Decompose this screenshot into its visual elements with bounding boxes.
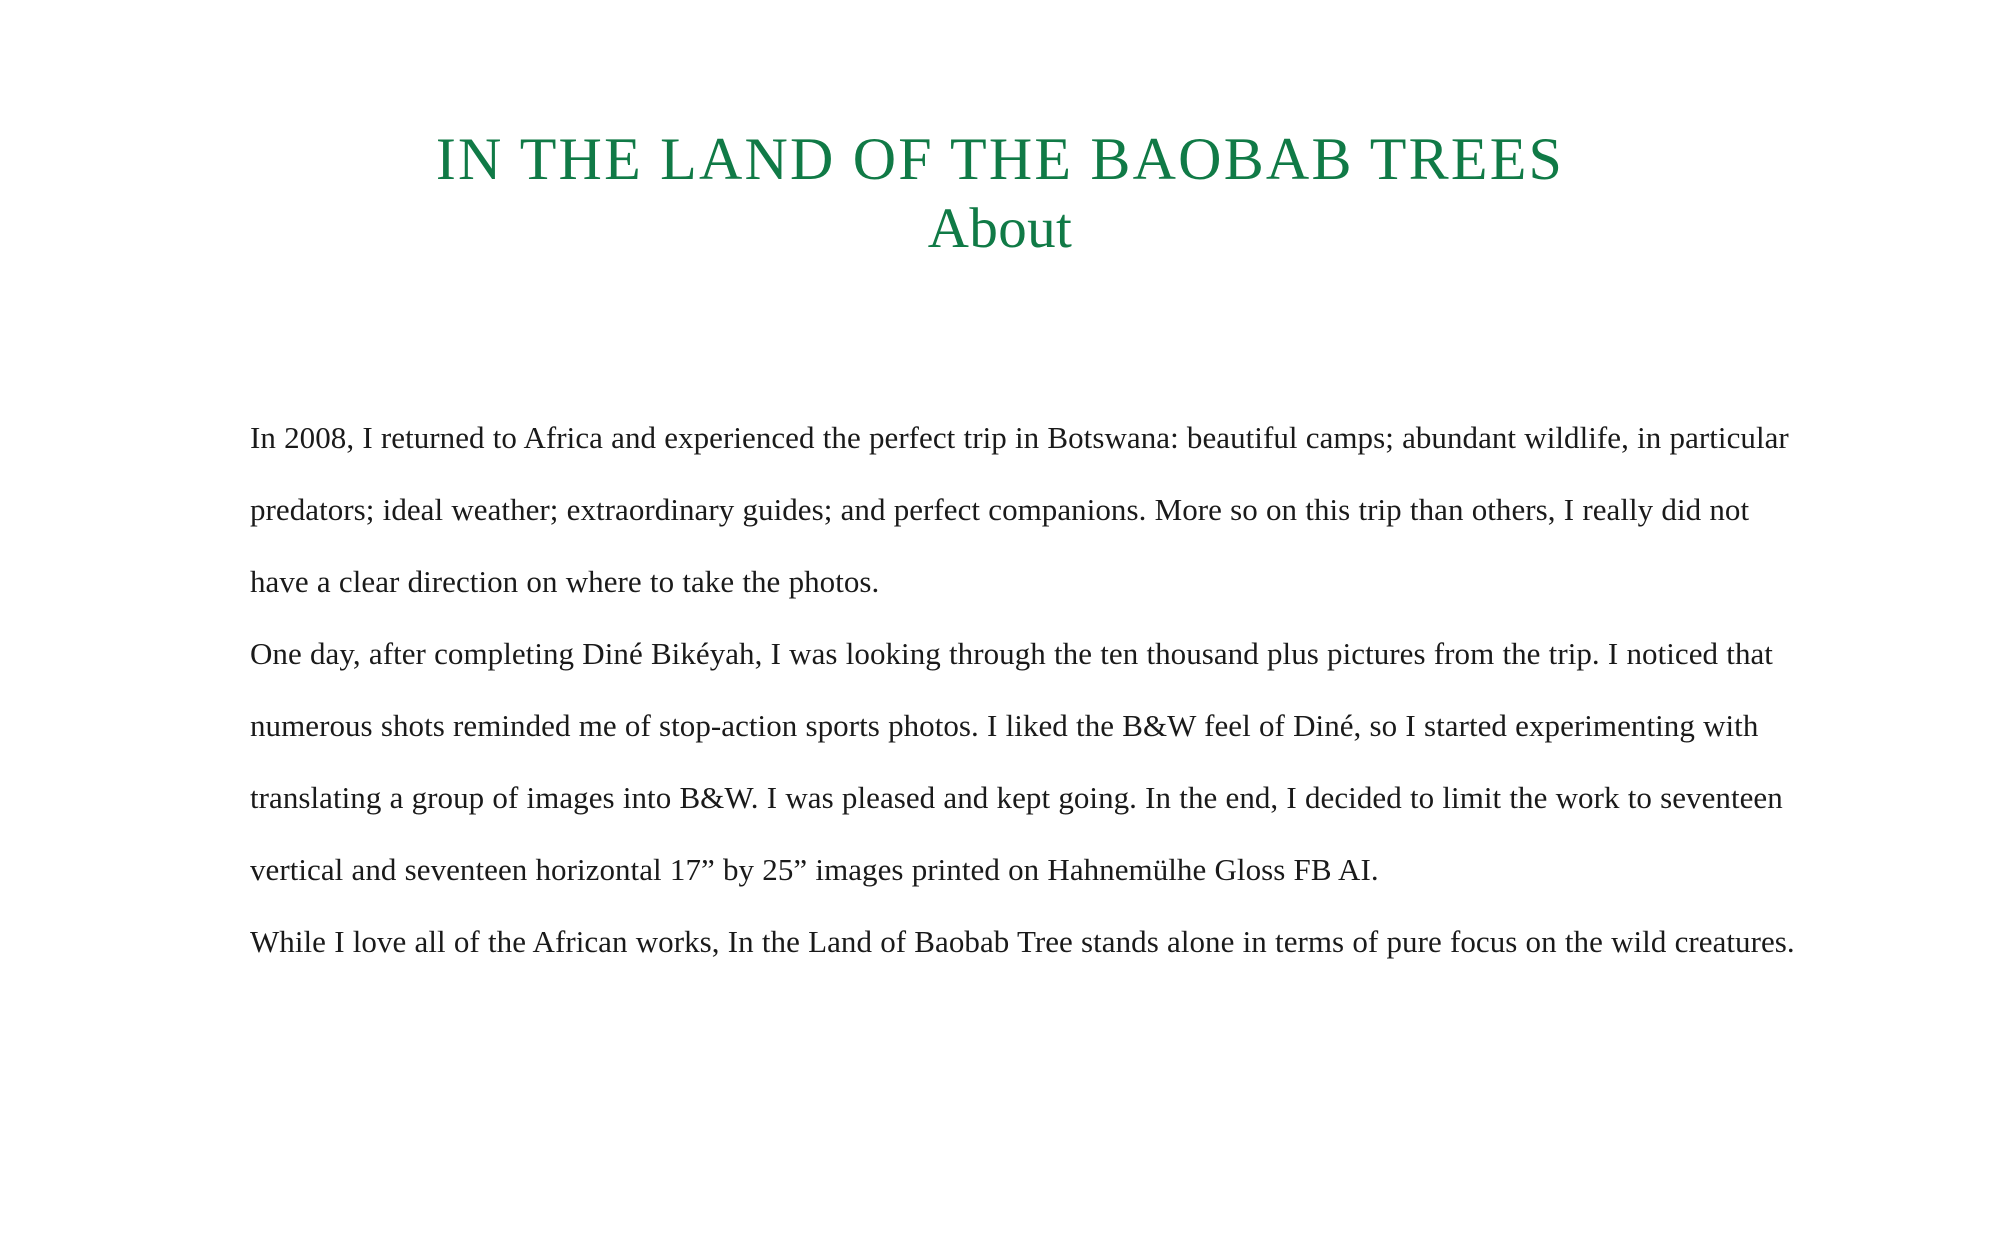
body-paragraph-3: While I love all of the African works, I…: [250, 906, 1798, 978]
document-header: IN THE LAND OF THE BAOBAB TREES About: [0, 128, 2000, 260]
body-paragraph-1: In 2008, I returned to Africa and experi…: [250, 402, 1798, 618]
document-page: IN THE LAND OF THE BAOBAB TREES About In…: [0, 0, 2000, 1245]
body-paragraph-2: One day, after completing Diné Bikéyah, …: [250, 618, 1798, 906]
body-text-column: In 2008, I returned to Africa and experi…: [250, 402, 1798, 978]
page-subtitle: About: [0, 198, 2000, 261]
page-title: IN THE LAND OF THE BAOBAB TREES: [0, 128, 2000, 192]
